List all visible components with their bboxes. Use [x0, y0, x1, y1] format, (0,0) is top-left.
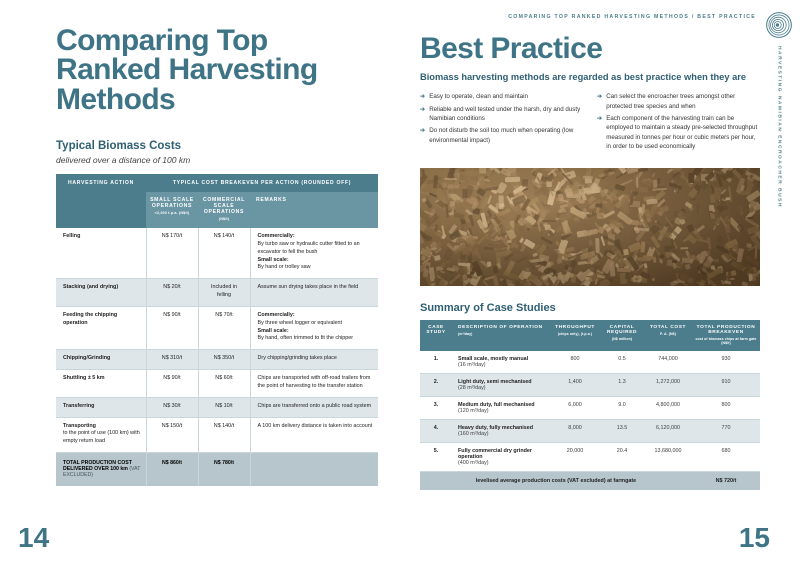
- remark-text: Assume sun drying takes place in the fie…: [258, 284, 374, 292]
- section-heading: Typical Biomass Costs: [56, 140, 378, 152]
- photo-chip: [594, 264, 596, 273]
- costs-header-row-1: HARVESTING ACTION TYPICAL COST BREAKEVEN…: [56, 174, 378, 192]
- cell-description: Heavy duty, fully mechanised(160 m³/day): [452, 420, 550, 443]
- list-item-label: Do not disturb the soil too much when op…: [429, 126, 583, 145]
- th-total-cost-label: TOTAL COST: [650, 325, 686, 330]
- arrow-bullet-icon: ➔: [420, 92, 425, 101]
- th-capital-label: CAPITAL REQUIRED: [607, 325, 637, 335]
- cell-description-unit: (120 m³/day): [458, 408, 546, 414]
- photo-chip: [574, 217, 579, 221]
- costs-table-body: FellingN$ 170/tN$ 140/tCommercially:By t…: [56, 228, 378, 452]
- cell-small-scale-cost: N$ 310/t: [146, 350, 198, 370]
- list-item: ➔Do not disturb the soil too much when o…: [420, 126, 583, 145]
- cell-action-note: to the point of use (100 km) with empty …: [63, 430, 140, 444]
- photo-chip: [711, 266, 715, 270]
- cell-description: Small scale, mostly manual(16 m³/day): [452, 351, 550, 374]
- remark-label: Commercially:: [258, 233, 374, 241]
- photo-chip: [441, 182, 447, 188]
- list-item: ➔Can select the encroacher trees amongst…: [597, 92, 760, 111]
- photo-chip: [684, 210, 689, 220]
- total-commercial-scale: N$ 780/t: [198, 453, 250, 487]
- total-label: TOTAL PRODUCTION COST DELIVERED OVER 100…: [63, 460, 132, 472]
- list-item: ➔Each component of the harvesting train …: [597, 114, 760, 151]
- cell-harvesting-action: Chipping/Grinding: [56, 350, 146, 370]
- wood-chips-photo: [420, 168, 760, 286]
- photo-chip: [423, 268, 426, 278]
- cell-total-cost: 13,680,000: [644, 443, 692, 472]
- cell-harvesting-action: Transferring: [56, 397, 146, 417]
- cell-case-number: 1.: [420, 351, 452, 374]
- photo-chip: [679, 247, 687, 250]
- costs-table-foot: TOTAL PRODUCTION COST DELIVERED OVER 100…: [56, 453, 378, 487]
- cell-throughput: 6,000: [550, 397, 600, 420]
- left-page: Comparing Top Ranked Harvesting Methods …: [0, 0, 400, 568]
- th-commercial-scale-label: COMMERCIAL SCALE OPERATIONS: [203, 197, 245, 215]
- arrow-bullet-icon: ➔: [597, 114, 602, 151]
- table-row: 2.Light duty, semi mechanised(28 m³/day)…: [420, 374, 760, 397]
- table-row: Shuttling ± 5 kmN$ 90/tN$ 60/tChips are …: [56, 370, 378, 398]
- cell-harvesting-action: Shuttling ± 5 km: [56, 370, 146, 398]
- cell-description: Light duty, semi mechanised(28 m³/day): [452, 374, 550, 397]
- cell-throughput: 1,400: [550, 374, 600, 397]
- bullets-column-right: ➔Can select the encroacher trees amongst…: [597, 92, 760, 154]
- cell-small-scale-cost: N$ 90/t: [146, 306, 198, 349]
- cell-commercial-scale-cost: N$ 60/t: [198, 370, 250, 398]
- photo-chip: [746, 243, 752, 248]
- remark-text: A 100 km delivery distance is taken into…: [258, 423, 374, 431]
- cell-commercial-scale-cost: N$ 140/t: [198, 228, 250, 279]
- cell-harvesting-action: Transportingto the point of use (100 km)…: [56, 417, 146, 452]
- photo-chip: [744, 269, 754, 274]
- cell-small-scale-cost: N$ 20/t: [146, 279, 198, 307]
- arrow-bullet-icon: ➔: [597, 92, 602, 111]
- page-title: Comparing Top Ranked Harvesting Methods: [56, 26, 378, 114]
- cell-commercial-scale-cost: Included in felling: [198, 279, 250, 307]
- th-description: DESCRIPTION OF OPERATION (m³/day): [452, 320, 550, 351]
- cases-table-body: 1.Small scale, mostly manual(16 m³/day)8…: [420, 351, 760, 472]
- cell-throughput: 20,000: [550, 443, 600, 472]
- list-item-label: Reliable and well tested under the harsh…: [429, 105, 583, 124]
- cell-small-scale-cost: N$ 150/t: [146, 417, 198, 452]
- photo-chip: [723, 209, 731, 217]
- th-breakeven: TOTAL PRODUCTION BREAKEVEN cost of bioma…: [692, 320, 760, 351]
- cell-throughput: 800: [550, 351, 600, 374]
- cell-action-label: Transporting: [63, 423, 96, 429]
- th-throughput: THROUGHPUT (chips only), (t.p.a.): [550, 320, 600, 351]
- cell-breakeven: 770: [692, 420, 760, 443]
- th-capital-sub: (N$ million): [603, 337, 641, 341]
- photo-chip: [688, 173, 695, 184]
- table-row: 4.Heavy duty, fully mechanised(160 m³/da…: [420, 420, 760, 443]
- th-small-scale-label: SMALL SCALE OPERATIONS: [150, 197, 194, 209]
- total-label-cell: TOTAL PRODUCTION COST DELIVERED OVER 100…: [56, 453, 146, 487]
- cell-total-cost: 1,272,000: [644, 374, 692, 397]
- remark-text: By hand, often trimmed to fit the chippe…: [258, 335, 374, 343]
- photo-chip: [596, 238, 600, 254]
- table-row: 3.Medium duty, full mechanised(120 m³/da…: [420, 397, 760, 420]
- cell-breakeven: 910: [692, 374, 760, 397]
- cell-description-unit: (16 m³/day): [458, 362, 546, 368]
- lead-paragraph: Biomass harvesting methods are regarded …: [420, 72, 760, 82]
- cell-harvesting-action: Feeding the chipping operation: [56, 306, 146, 349]
- cell-description: Fully commercial dry grinder operation(4…: [452, 443, 550, 472]
- table-row: 1.Small scale, mostly manual(16 m³/day)8…: [420, 351, 760, 374]
- photo-chip: [521, 179, 527, 186]
- table-row: TransferringN$ 30/tN$ 10/tChips are tran…: [56, 397, 378, 417]
- cell-description: Medium duty, full mechanised(120 m³/day): [452, 397, 550, 420]
- photo-chip: [626, 230, 632, 245]
- cell-remarks: Chips are transferred onto a public road…: [250, 397, 378, 417]
- remark-text: Chips are transported with off-road trai…: [258, 375, 374, 391]
- table-row: Stacking (and drying)N$ 20/tIncluded in …: [56, 279, 378, 307]
- list-item-label: Easy to operate, clean and maintain: [429, 92, 528, 101]
- photo-chip: [737, 199, 741, 212]
- cell-total-cost: 6,120,000: [644, 420, 692, 443]
- th-remarks: REMARKS: [250, 192, 378, 228]
- th-breakeven-label: TOTAL PRODUCTION BREAKEVEN: [697, 325, 756, 335]
- cell-capital: 13.5: [600, 420, 644, 443]
- cell-case-number: 5.: [420, 443, 452, 472]
- th-breakeven-sub: cost of biomass chips at farm gate (N$/t…: [695, 337, 757, 345]
- cell-case-number: 4.: [420, 420, 452, 443]
- th-case-study: CASE STUDY: [420, 320, 452, 351]
- photo-chip: [462, 189, 468, 198]
- summary-of-case-studies-table: CASE STUDY DESCRIPTION OF OPERATION (m³/…: [420, 320, 760, 490]
- cell-commercial-scale-cost: N$ 140/t: [198, 417, 250, 452]
- right-page-title: Best Practice: [420, 34, 760, 63]
- photo-chip: [709, 205, 715, 211]
- cell-remarks: Chips are transported with off-road trai…: [250, 370, 378, 398]
- best-practice-bullets: ➔Easy to operate, clean and maintain➔Rel…: [420, 92, 760, 154]
- cell-harvesting-action: Felling: [56, 228, 146, 279]
- page-number-left: 14: [18, 522, 49, 554]
- th-description-sub: (m³/day): [458, 332, 547, 336]
- list-item-label: Each component of the harvesting train c…: [606, 114, 760, 151]
- table-row: 5.Fully commercial dry grinder operation…: [420, 443, 760, 472]
- photo-chip: [422, 249, 431, 256]
- arrow-bullet-icon: ➔: [420, 105, 425, 124]
- section-subheading: delivered over a distance of 100 km: [56, 155, 378, 165]
- remark-text: By hand or trolley saw: [258, 264, 374, 272]
- running-head: COMPARING TOP RANKED HARVESTING METHODS …: [420, 14, 760, 20]
- photo-chip: [716, 204, 730, 207]
- cell-commercial-scale-cost: N$ 70/t: [198, 306, 250, 349]
- cell-small-scale-cost: N$ 30/t: [146, 397, 198, 417]
- th-total-cost-sub: P. A. (N$): [647, 332, 689, 336]
- brand-margin-band: HARVESTING NAMIBIAN ENCROACHER BUSH: [764, 12, 794, 312]
- th-commercial-scale-sub: (N$/t): [202, 217, 246, 221]
- photo-chip: [672, 259, 677, 263]
- th-cost-breakeven-group: TYPICAL COST BREAKEVEN PER ACTION (ROUND…: [146, 174, 378, 192]
- total-row: TOTAL PRODUCTION COST DELIVERED OVER 100…: [56, 453, 378, 487]
- cell-breakeven: 800: [692, 397, 760, 420]
- document-spread: Comparing Top Ranked Harvesting Methods …: [0, 0, 800, 568]
- th-commercial-scale: COMMERCIAL SCALE OPERATIONS (N$/t): [198, 192, 250, 228]
- remark-label: Small scale:: [258, 257, 374, 265]
- total-small-scale: N$ 860/t: [146, 453, 198, 487]
- cell-small-scale-cost: N$ 90/t: [146, 370, 198, 398]
- photo-chip: [487, 261, 491, 266]
- cell-total-cost: 744,000: [644, 351, 692, 374]
- photo-chip: [657, 178, 661, 184]
- cell-description-unit: (28 m³/day): [458, 385, 546, 391]
- cell-remarks: Commercially:By three wheel logger or eq…: [250, 306, 378, 349]
- list-item: ➔Easy to operate, clean and maintain: [420, 92, 583, 101]
- page-number-right: 15: [739, 522, 770, 554]
- cases-table-foot: levelised average production costs (VAT …: [420, 472, 760, 491]
- photo-chip: [671, 238, 674, 245]
- cell-throughput: 8,000: [550, 420, 600, 443]
- remark-text: By turbo saw or hydraulic cutter fitted …: [258, 241, 374, 257]
- photo-chip: [499, 203, 505, 208]
- cell-remarks: A 100 km delivery distance is taken into…: [250, 417, 378, 452]
- list-item: ➔Reliable and well tested under the hars…: [420, 105, 583, 124]
- th-description-label: DESCRIPTION OF OPERATION: [458, 325, 543, 330]
- photo-chip: [624, 271, 628, 279]
- photo-chip: [548, 175, 554, 180]
- photo-chip: [522, 280, 529, 283]
- th-throughput-label: THROUGHPUT: [555, 325, 595, 330]
- vertical-brand-text: HARVESTING NAMIBIAN ENCROACHER BUSH: [777, 46, 782, 208]
- cases-footer-row: levelised average production costs (VAT …: [420, 472, 760, 491]
- table-row: Chipping/GrindingN$ 310/tN$ 350/tDry chi…: [56, 350, 378, 370]
- th-capital: CAPITAL REQUIRED (N$ million): [600, 320, 644, 351]
- th-small-scale: SMALL SCALE OPERATIONS <2,200 t.p.a. (N$…: [146, 192, 198, 228]
- typical-biomass-costs-table: HARVESTING ACTION TYPICAL COST BREAKEVEN…: [56, 174, 378, 486]
- tree-ring-logo-icon: [766, 12, 792, 38]
- cell-capital: 20.4: [600, 443, 644, 472]
- summary-title: Summary of Case Studies: [420, 302, 760, 314]
- remark-label: Small scale:: [258, 328, 374, 336]
- cell-remarks: Assume sun drying takes place in the fie…: [250, 279, 378, 307]
- right-page: COMPARING TOP RANKED HARVESTING METHODS …: [400, 0, 800, 568]
- photo-chip: [434, 255, 441, 261]
- bullets-column-left: ➔Easy to operate, clean and maintain➔Rel…: [420, 92, 583, 154]
- cell-capital: 1.3: [600, 374, 644, 397]
- remark-text: Dry chipping/grinding takes place: [258, 355, 374, 363]
- cell-remarks: Dry chipping/grinding takes place: [250, 350, 378, 370]
- photo-chip: [608, 218, 614, 224]
- cell-capital: 9.0: [600, 397, 644, 420]
- cell-commercial-scale-cost: N$ 350/t: [198, 350, 250, 370]
- cases-header-row: CASE STUDY DESCRIPTION OF OPERATION (m³/…: [420, 320, 760, 351]
- cell-case-number: 2.: [420, 374, 452, 397]
- cases-footer-label: levelised average production costs (VAT …: [420, 472, 692, 491]
- cell-total-cost: 4,800,000: [644, 397, 692, 420]
- photo-chip: [505, 176, 520, 182]
- table-row: FellingN$ 170/tN$ 140/tCommercially:By t…: [56, 228, 378, 279]
- photo-chip: [435, 225, 438, 232]
- cell-harvesting-action: Stacking (and drying): [56, 279, 146, 307]
- cell-case-number: 3.: [420, 397, 452, 420]
- cell-commercial-scale-cost: N$ 10/t: [198, 397, 250, 417]
- cell-description-unit: (400 m³/day): [458, 460, 546, 466]
- photo-chip: [639, 187, 649, 192]
- th-small-scale-sub: <2,200 t.p.a. (N$/t): [150, 211, 194, 215]
- cell-description-label: Fully commercial dry grinder operation: [458, 448, 532, 460]
- table-row: Feeding the chipping operationN$ 90/tN$ …: [56, 306, 378, 349]
- cell-remarks: Commercially:By turbo saw or hydraulic c…: [250, 228, 378, 279]
- th-total-cost: TOTAL COST P. A. (N$): [644, 320, 692, 351]
- photo-chip: [446, 221, 449, 225]
- table-row: Transportingto the point of use (100 km)…: [56, 417, 378, 452]
- photo-chip: [480, 168, 487, 173]
- cell-small-scale-cost: N$ 170/t: [146, 228, 198, 279]
- list-item-label: Can select the encroacher trees amongst …: [606, 92, 760, 111]
- cell-description-unit: (160 m³/day): [458, 431, 546, 437]
- arrow-bullet-icon: ➔: [420, 126, 425, 145]
- th-harvesting-action: HARVESTING ACTION: [56, 174, 146, 228]
- total-remarks: [250, 453, 378, 487]
- remark-text: By three wheel logger or equivalent: [258, 320, 374, 328]
- cases-footer-value: N$ 720/t: [692, 472, 760, 491]
- cell-breakeven: 930: [692, 351, 760, 374]
- remark-label: Commercially:: [258, 312, 374, 320]
- th-throughput-sub: (chips only), (t.p.a.): [553, 332, 597, 336]
- remark-text: Chips are transferred onto a public road…: [258, 403, 374, 411]
- cell-breakeven: 680: [692, 443, 760, 472]
- cell-capital: 0.5: [600, 351, 644, 374]
